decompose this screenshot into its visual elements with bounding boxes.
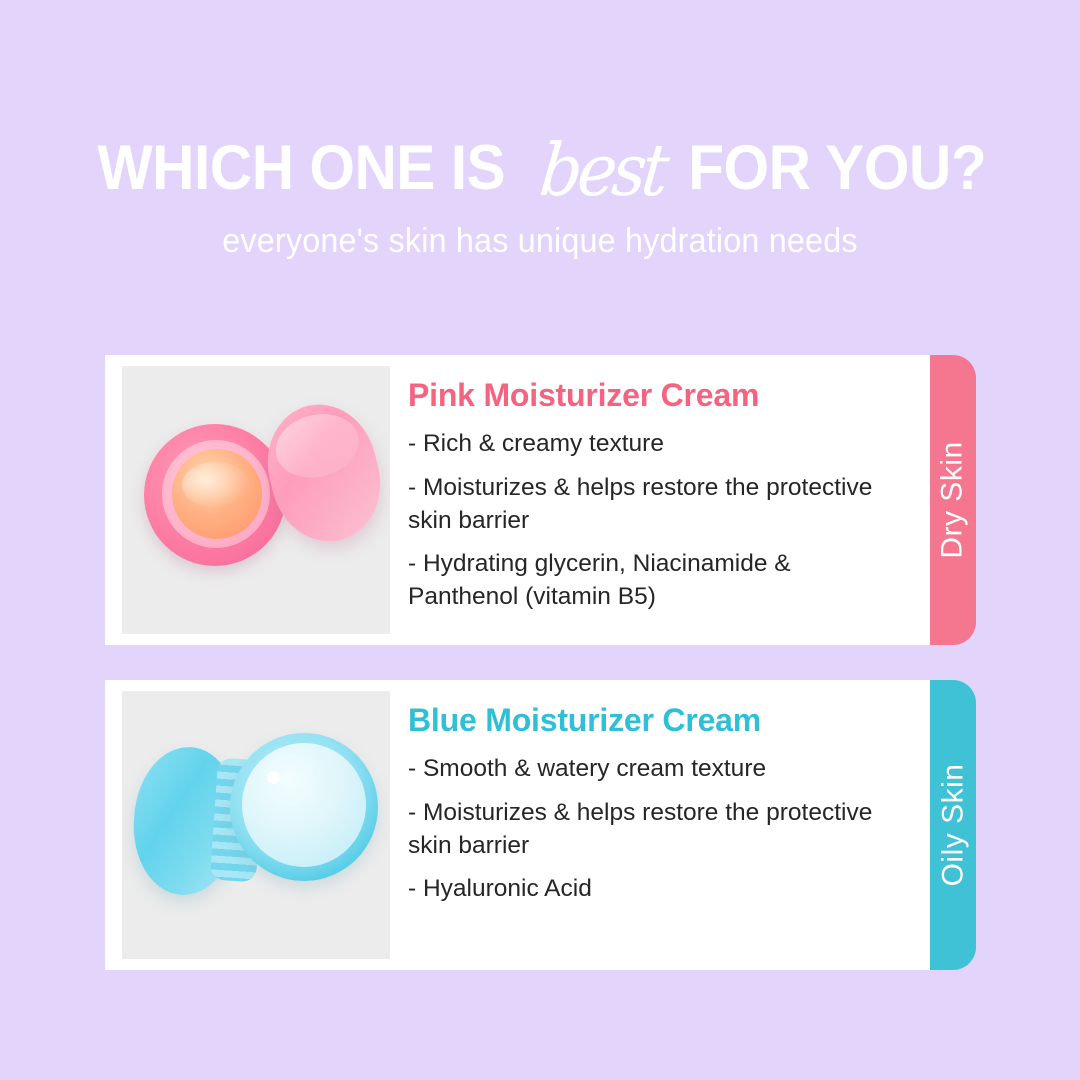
- headline-part-2: FOR YOU?: [689, 137, 987, 200]
- list-item: - Moisturizes & helps restore the protec…: [408, 797, 904, 863]
- list-item: - Moisturizes & helps restore the protec…: [408, 472, 904, 538]
- blue-card-title: Blue Moisturizer Cream: [408, 702, 904, 739]
- blue-gel-bubble-icon: [267, 771, 280, 784]
- skin-type-tab-dry-label: Dry Skin: [936, 441, 970, 558]
- header: WHICH ONE IS best FOR YOU? everyone's sk…: [0, 0, 1080, 261]
- blue-moisturizer-jar-photo: [122, 691, 390, 959]
- list-item: - Hydrating glycerin, Niacinamide & Pant…: [408, 548, 904, 614]
- list-item: - Rich & creamy texture: [408, 428, 904, 461]
- page-title: WHICH ONE IS best FOR YOU?: [0, 128, 1080, 200]
- product-card-blue[interactable]: Blue Moisturizer Cream - Smooth & watery…: [105, 680, 930, 970]
- pink-jar-lid-highlight-icon: [269, 406, 366, 486]
- blue-feature-list: - Smooth & watery cream texture - Moistu…: [408, 753, 904, 906]
- pink-card-title: Pink Moisturizer Cream: [408, 377, 904, 414]
- pink-cream-highlight-icon: [182, 462, 250, 508]
- blue-card-body: Blue Moisturizer Cream - Smooth & watery…: [390, 680, 930, 970]
- page-subtitle: everyone's skin has unique hydration nee…: [27, 222, 1053, 261]
- skin-type-tab-oily[interactable]: Oily Skin: [930, 680, 976, 970]
- blue-gel-surface-icon: [242, 743, 366, 867]
- list-item: - Smooth & watery cream texture: [408, 753, 904, 786]
- pink-card-body: Pink Moisturizer Cream - Rich & creamy t…: [390, 355, 930, 645]
- product-card-pink[interactable]: Pink Moisturizer Cream - Rich & creamy t…: [105, 355, 930, 645]
- list-item: - Hyaluronic Acid: [408, 873, 904, 906]
- headline-part-1: WHICH ONE IS: [98, 137, 506, 200]
- pink-moisturizer-jar-photo: [122, 366, 390, 634]
- skin-type-tab-dry[interactable]: Dry Skin: [930, 355, 976, 645]
- pink-feature-list: - Rich & creamy texture - Moisturizes & …: [408, 428, 904, 614]
- headline-script-word: best: [536, 134, 667, 206]
- skin-type-tab-oily-label: Oily Skin: [936, 764, 970, 887]
